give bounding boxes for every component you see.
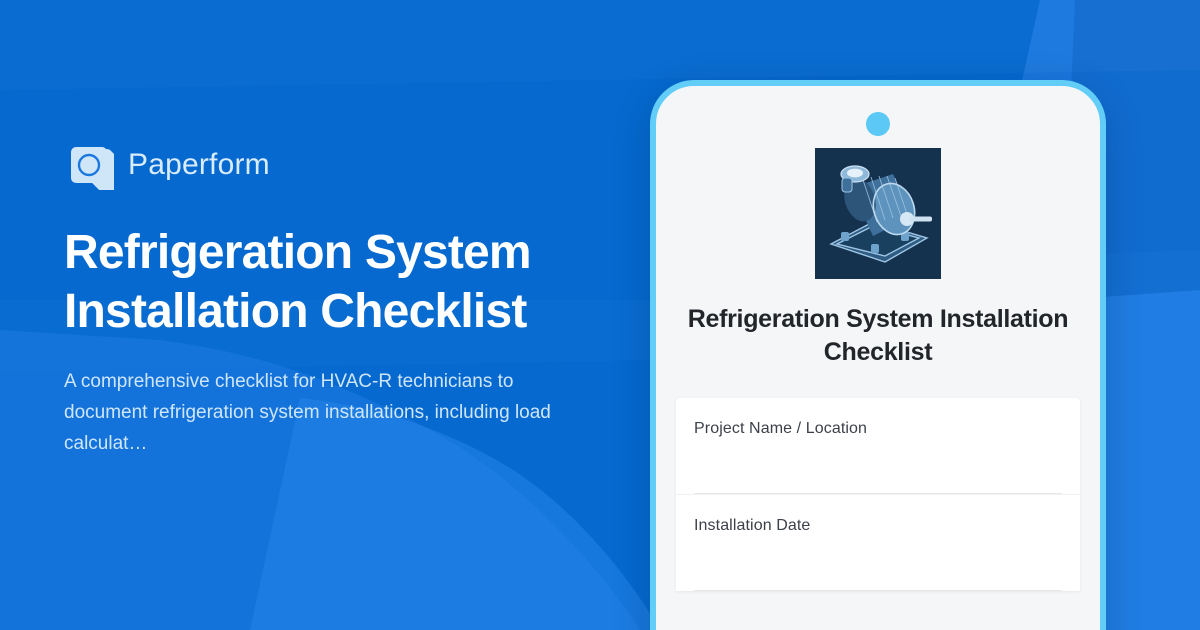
phone-mockup: Refrigeration System Installation Checkl… <box>650 80 1106 630</box>
form-field-label: Installation Date <box>694 517 1062 535</box>
brand-lockup: Paperform <box>64 140 664 190</box>
form-field-label: Project Name / Location <box>694 420 1062 438</box>
form-title: Refrigeration System Installation Checkl… <box>682 303 1074 368</box>
page-description: A comprehensive checklist for HVAC-R tec… <box>64 367 579 459</box>
form-hero-image <box>815 148 941 279</box>
hero-panel: Paperform Refrigeration System Installat… <box>64 0 664 630</box>
refrigeration-compressor-illustration <box>815 148 941 279</box>
camera-dot-icon <box>866 112 890 136</box>
page-title: Refrigeration System Installation Checkl… <box>64 224 604 341</box>
form-card: Project Name / Location Installation Dat… <box>676 398 1080 591</box>
installation-date-input[interactable] <box>694 535 1062 591</box>
form-field-installation-date[interactable]: Installation Date <box>676 494 1080 591</box>
brand-name: Paperform <box>128 150 270 180</box>
form-field-project-name[interactable]: Project Name / Location <box>676 398 1080 494</box>
paperform-logo-icon <box>64 140 114 190</box>
project-name-input[interactable] <box>694 438 1062 494</box>
